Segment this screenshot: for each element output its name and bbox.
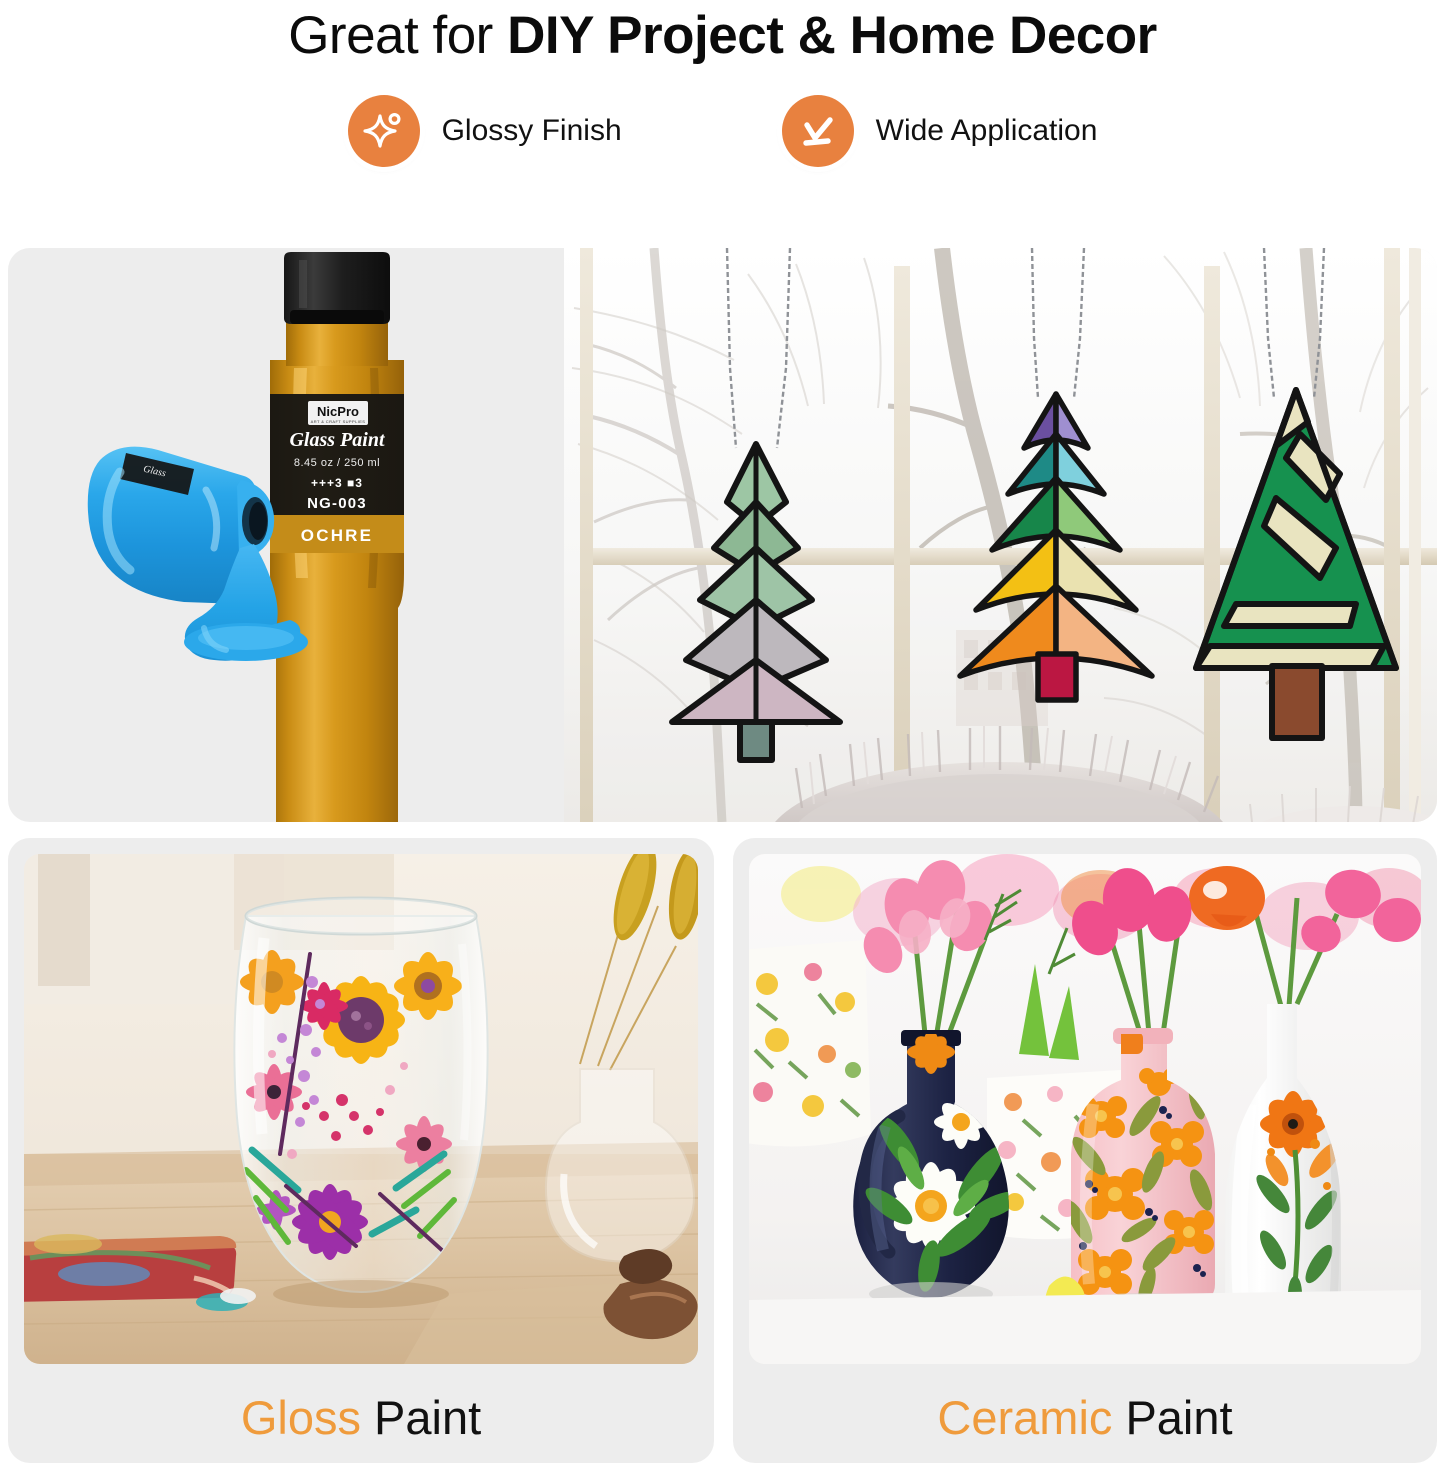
caption-dark: Paint [361,1391,481,1444]
caption-accent: Gloss [241,1391,361,1444]
svg-text:OCHRE: OCHRE [301,526,373,545]
caption-accent: Ceramic [937,1391,1112,1444]
svg-text:Glass Paint: Glass Paint [289,429,385,451]
painted-coaster [24,1234,256,1311]
title-light-part: Great for [288,6,507,65]
feature-label: Glossy Finish [442,114,622,148]
gloss-paint-caption: Gloss Paint [8,1390,714,1445]
svg-text:NG-003: NG-003 [307,495,367,512]
feature-wide-application: Wide Application [782,95,1098,167]
ceramic-paint-photo [749,854,1421,1364]
sparkle-icon [348,95,420,167]
svg-text:NicPro: NicPro [317,404,359,419]
feature-glossy-finish: Glossy Finish [348,95,622,167]
page-title: Great for DIY Project & Home Decor [0,0,1445,67]
opaque-coverage-panel: NicPro ART & CRAFT SUPPLIES Glass Paint … [8,248,1437,822]
gloss-paint-panel: Gloss Paint [8,838,714,1463]
svg-text:ART & CRAFT SUPPLIES: ART & CRAFT SUPPLIES [311,419,366,424]
svg-text:+++3 ■3: +++3 ■3 [311,476,363,490]
ceramic-paint-caption: Ceramic Paint [733,1390,1437,1445]
check-brush-icon [782,95,854,167]
svg-text:8.45 oz / 250 ml: 8.45 oz / 250 ml [294,457,380,469]
caption-dark: Paint [1112,1391,1232,1444]
gloss-paint-photo [24,854,698,1364]
ceramic-paint-panel: Ceramic Paint [733,838,1437,1463]
title-bold-part: DIY Project & Home Decor [507,6,1157,65]
bg-floral-pot-left [749,940,871,1147]
feature-label: Wide Application [876,114,1098,148]
window-suncatcher-photo [564,248,1437,822]
feature-badge-row: Glossy Finish Wide Application [0,95,1445,167]
